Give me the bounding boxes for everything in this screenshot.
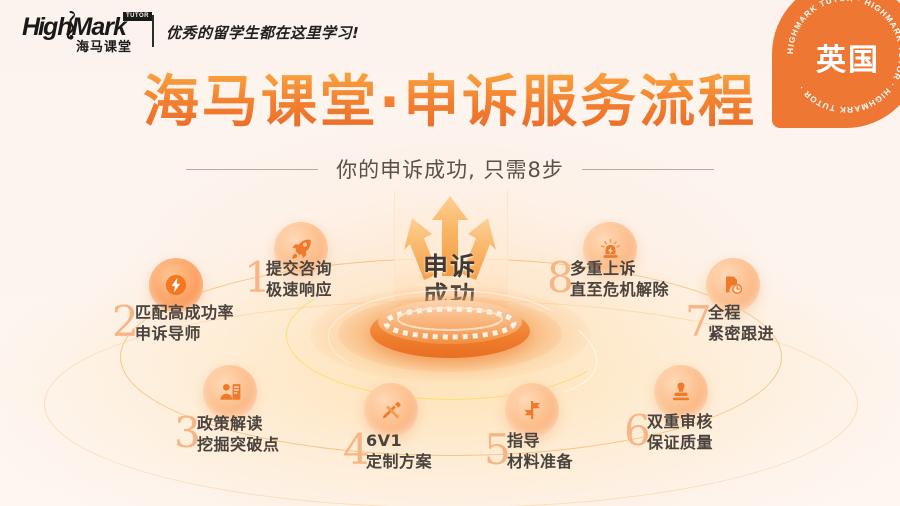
- step-6-line1: 双重审核: [647, 411, 713, 432]
- step-8-line1: 多重上诉: [570, 258, 669, 279]
- step-1-line1: 提交咨询: [266, 258, 332, 279]
- step-2-line2: 申诉导师: [135, 323, 234, 344]
- step-4-text: 6V1 定制方案: [366, 430, 432, 472]
- highmark-logo: HighMark TUTOR 海马课堂: [22, 11, 150, 53]
- logo-chinese-name: 海马课堂: [76, 36, 132, 55]
- step-5-line1: 指导: [507, 430, 573, 451]
- infographic-poster: HighMark TUTOR 海马课堂 优秀的留学生都在这里学习! HIGHMA…: [0, 0, 900, 506]
- pen-ruler-icon: [364, 383, 418, 437]
- logo-word-hi: Hi: [22, 13, 43, 41]
- step-7-line1: 全程: [708, 302, 774, 323]
- step-4-line2: 定制方案: [366, 451, 432, 472]
- step-6-text: 双重审核 保证质量: [647, 411, 713, 453]
- seahorse-icon: [62, 11, 77, 45]
- step-8-line2: 直至危机解除: [570, 279, 669, 300]
- subtitle-row: 你的申诉成功, 只需8步: [0, 152, 900, 186]
- step-1-line2: 极速响应: [266, 279, 332, 300]
- subtitle-rule-left: [186, 169, 318, 170]
- step-5-line2: 材料准备: [507, 451, 573, 472]
- step-8-text: 多重上诉 直至危机解除: [570, 258, 669, 300]
- step-1-text: 提交咨询 极速响应: [266, 258, 332, 300]
- step-5-text: 指导 材料准备: [507, 430, 573, 472]
- step-3-line2: 挖掘突破点: [197, 434, 280, 455]
- step-3-text: 政策解读 挖掘突破点: [197, 413, 280, 455]
- step-4-line1: 6V1: [366, 430, 432, 451]
- page-header: HighMark TUTOR 海马课堂 优秀的留学生都在这里学习!: [0, 0, 900, 62]
- page-title: 海马课堂·申诉服务流程: [0, 72, 900, 134]
- step-7-line2: 紧密跟进: [708, 323, 774, 344]
- header-divider: [152, 15, 154, 47]
- page-subtitle: 你的申诉成功, 只需8步: [336, 154, 564, 184]
- step-7-text: 全程 紧密跟进: [708, 302, 774, 344]
- header-tagline: 优秀的留学生都在这里学习!: [166, 22, 359, 43]
- step-2-text: 匹配高成功率 申诉导师: [135, 302, 234, 344]
- person-document-icon: [203, 365, 257, 419]
- step-3-line1: 政策解读: [197, 413, 280, 434]
- signpost-icon: [505, 383, 559, 437]
- step-2-line1: 匹配高成功率: [135, 302, 234, 323]
- subtitle-rule-right: [582, 169, 714, 170]
- step-6-line2: 保证质量: [647, 432, 713, 453]
- logo-tutor-badge: TUTOR: [123, 12, 152, 21]
